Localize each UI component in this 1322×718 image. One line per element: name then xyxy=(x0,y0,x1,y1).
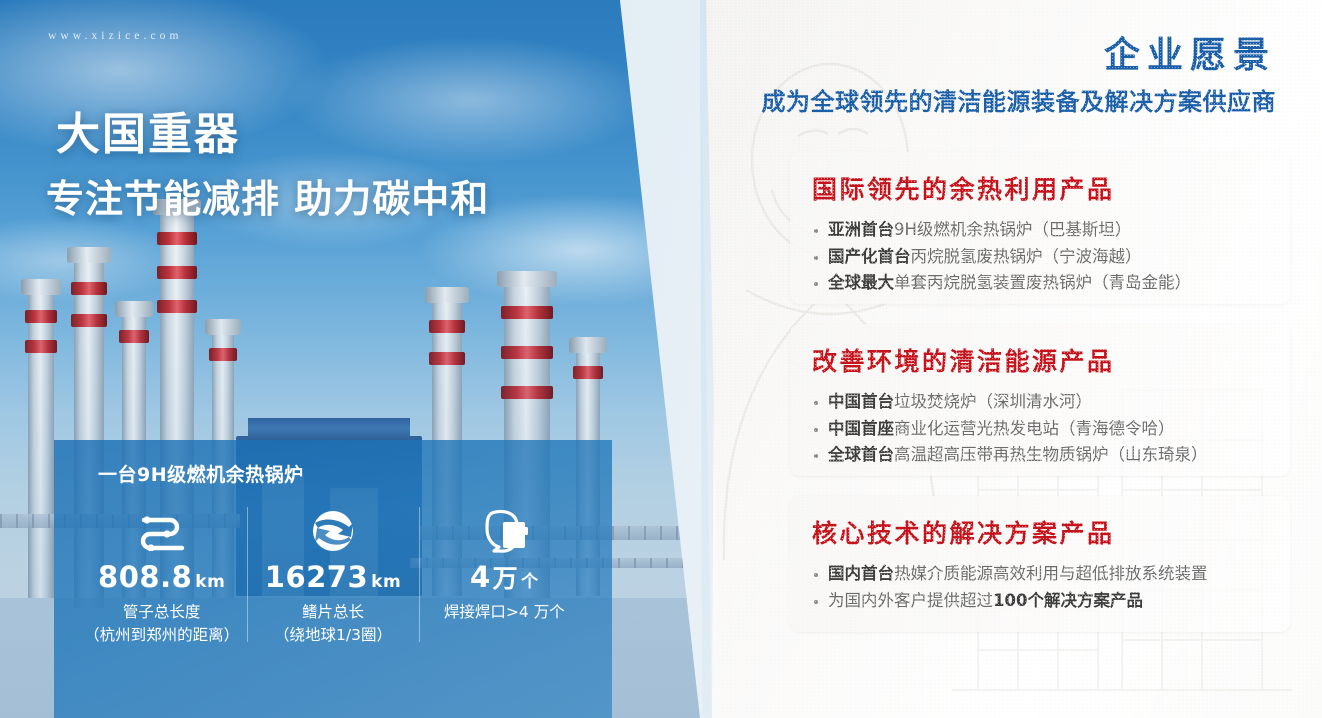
list-item: 亚洲首台9H级燃机余热锅炉（巴基斯坦） xyxy=(812,217,1270,244)
bullet-highlight: 中国首台 xyxy=(828,392,894,411)
list-item: 中国首座商业化运营光热发电站（青海德令哈） xyxy=(812,416,1270,443)
bullet-highlight: 中国首座 xyxy=(828,419,894,438)
list-item: 国内首台热媒介质能源高效利用与超低排放系统装置 xyxy=(812,561,1270,588)
list-item: 为国内外客户提供超过100个解决方案产品 xyxy=(812,588,1270,615)
stat-number: 808.8 xyxy=(98,560,192,594)
hero-photo-panel: www.xizice.com 大国重器 专注节能减排 助力碳中和 一台9H级燃机… xyxy=(0,0,712,718)
stats-panel: 一台9H级燃机余热锅炉 808.8km xyxy=(54,440,612,718)
stat-label-line1: 鳍片总长 xyxy=(251,601,414,624)
stat-label-line1: 焊接焊口>4 万个 xyxy=(423,601,586,624)
stat-label: 鳍片总长 （绕地球1/3圈） xyxy=(251,601,414,648)
card-bullet-list: 亚洲首台9H级燃机余热锅炉（巴基斯坦） 国产化首台丙烷脱氢废热锅炉（宁波海越） … xyxy=(812,217,1270,297)
card-title: 国际领先的余热利用产品 xyxy=(812,170,1270,206)
stat-label: 焊接焊口>4 万个 xyxy=(423,601,586,624)
bullet-highlight: 国内首台 xyxy=(828,564,894,583)
bullet-highlight-2: 100个解决方案产品 xyxy=(993,591,1143,610)
bullet-text: 为国内外客户提供超过 xyxy=(828,591,993,610)
welding-helmet-icon xyxy=(423,503,586,559)
bullet-highlight: 全球最大 xyxy=(828,273,894,292)
card-bullet-list: 中国首台垃圾焚烧炉（深圳清水河） 中国首座商业化运营光热发电站（青海德令哈） 全… xyxy=(812,389,1270,469)
hero-headline: 大国重器 xyxy=(56,98,240,162)
site-url-watermark: www.xizice.com xyxy=(48,30,183,42)
bullet-text: 热媒介质能源高效利用与超低排放系统装置 xyxy=(894,564,1208,583)
stat-label-line2: （绕地球1/3圈） xyxy=(251,624,414,647)
stat-unit: km xyxy=(371,572,401,592)
vision-card-2[interactable]: 改善环境的清洁能源产品 中国首台垃圾焚烧炉（深圳清水河） 中国首座商业化运营光热… xyxy=(790,324,1290,476)
stat-value: 808.8km xyxy=(80,563,243,592)
vision-panel: 企业愿景 成为全球领先的清洁能源装备及解决方案供应商 国际领先的余热利用产品 亚… xyxy=(640,0,1322,718)
card-title: 改善环境的清洁能源产品 xyxy=(812,342,1270,378)
stat-number: 4 xyxy=(470,560,491,594)
bullet-text: 垃圾焚烧炉（深圳清水河） xyxy=(894,392,1092,411)
stats-panel-title: 一台9H级燃机余热锅炉 xyxy=(98,460,590,487)
list-item: 国产化首台丙烷脱氢废热锅炉（宁波海越） xyxy=(812,244,1270,271)
page-subtitle: 成为全球领先的清洁能源装备及解决方案供应商 xyxy=(762,82,1277,117)
slide-root: www.xizice.com 大国重器 专注节能减排 助力碳中和 一台9H级燃机… xyxy=(0,0,1322,718)
stat-unit: km xyxy=(195,572,225,592)
stat-unit: 万 xyxy=(493,564,519,593)
stat-value: 4万个 xyxy=(423,563,586,592)
stat-label-line2: （杭州到郑州的距离） xyxy=(80,624,243,647)
list-item: 全球最大单套丙烷脱氢装置废热锅炉（青岛金能） xyxy=(812,270,1270,297)
pipe-route-icon xyxy=(80,503,243,559)
card-bullet-list: 国内首台热媒介质能源高效利用与超低排放系统装置 为国内外客户提供超过100个解决… xyxy=(812,561,1270,614)
bullet-text: 高温超高压带再热生物质锅炉（山东琦泉） xyxy=(894,445,1208,464)
stats-row: 808.8km 管子总长度 （杭州到郑州的距离） xyxy=(76,503,590,648)
list-item: 中国首台垃圾焚烧炉（深圳清水河） xyxy=(812,389,1270,416)
page-title: 企业愿景 xyxy=(1104,26,1276,78)
vision-card-3[interactable]: 核心技术的解决方案产品 国内首台热媒介质能源高效利用与超低排放系统装置 为国内外… xyxy=(790,496,1290,632)
stat-item-weld-joints: 4万个 焊接焊口>4 万个 xyxy=(419,503,590,648)
bullet-highlight: 全球首台 xyxy=(828,445,894,464)
vision-card-1[interactable]: 国际领先的余热利用产品 亚洲首台9H级燃机余热锅炉（巴基斯坦） 国产化首台丙烷脱… xyxy=(790,152,1290,304)
list-item: 全球首台高温超高压带再热生物质锅炉（山东琦泉） xyxy=(812,442,1270,469)
bullet-text: 9H级燃机余热锅炉（巴基斯坦） xyxy=(894,220,1131,239)
globe-arrows-icon xyxy=(251,503,414,559)
stat-number: 16273 xyxy=(265,560,368,594)
bullet-highlight: 国产化首台 xyxy=(828,247,911,266)
stat-unit-2: 个 xyxy=(521,572,539,592)
bullet-text: 丙烷脱氢废热锅炉（宁波海越） xyxy=(911,247,1142,266)
stat-item-pipe-length: 808.8km 管子总长度 （杭州到郑州的距离） xyxy=(76,503,247,648)
bullet-text: 商业化运营光热发电站（青海德令哈） xyxy=(894,419,1175,438)
hero-subheadline: 专注节能减排 助力碳中和 xyxy=(46,168,489,223)
card-title: 核心技术的解决方案产品 xyxy=(812,514,1270,550)
stat-item-fin-length: 16273km 鳍片总长 （绕地球1/3圈） xyxy=(247,503,418,648)
bullet-highlight: 亚洲首台 xyxy=(828,220,894,239)
stat-label-line1: 管子总长度 xyxy=(80,601,243,624)
stat-label: 管子总长度 （杭州到郑州的距离） xyxy=(80,601,243,648)
bullet-text: 单套丙烷脱氢装置废热锅炉（青岛金能） xyxy=(894,273,1191,292)
stat-value: 16273km xyxy=(251,563,414,592)
